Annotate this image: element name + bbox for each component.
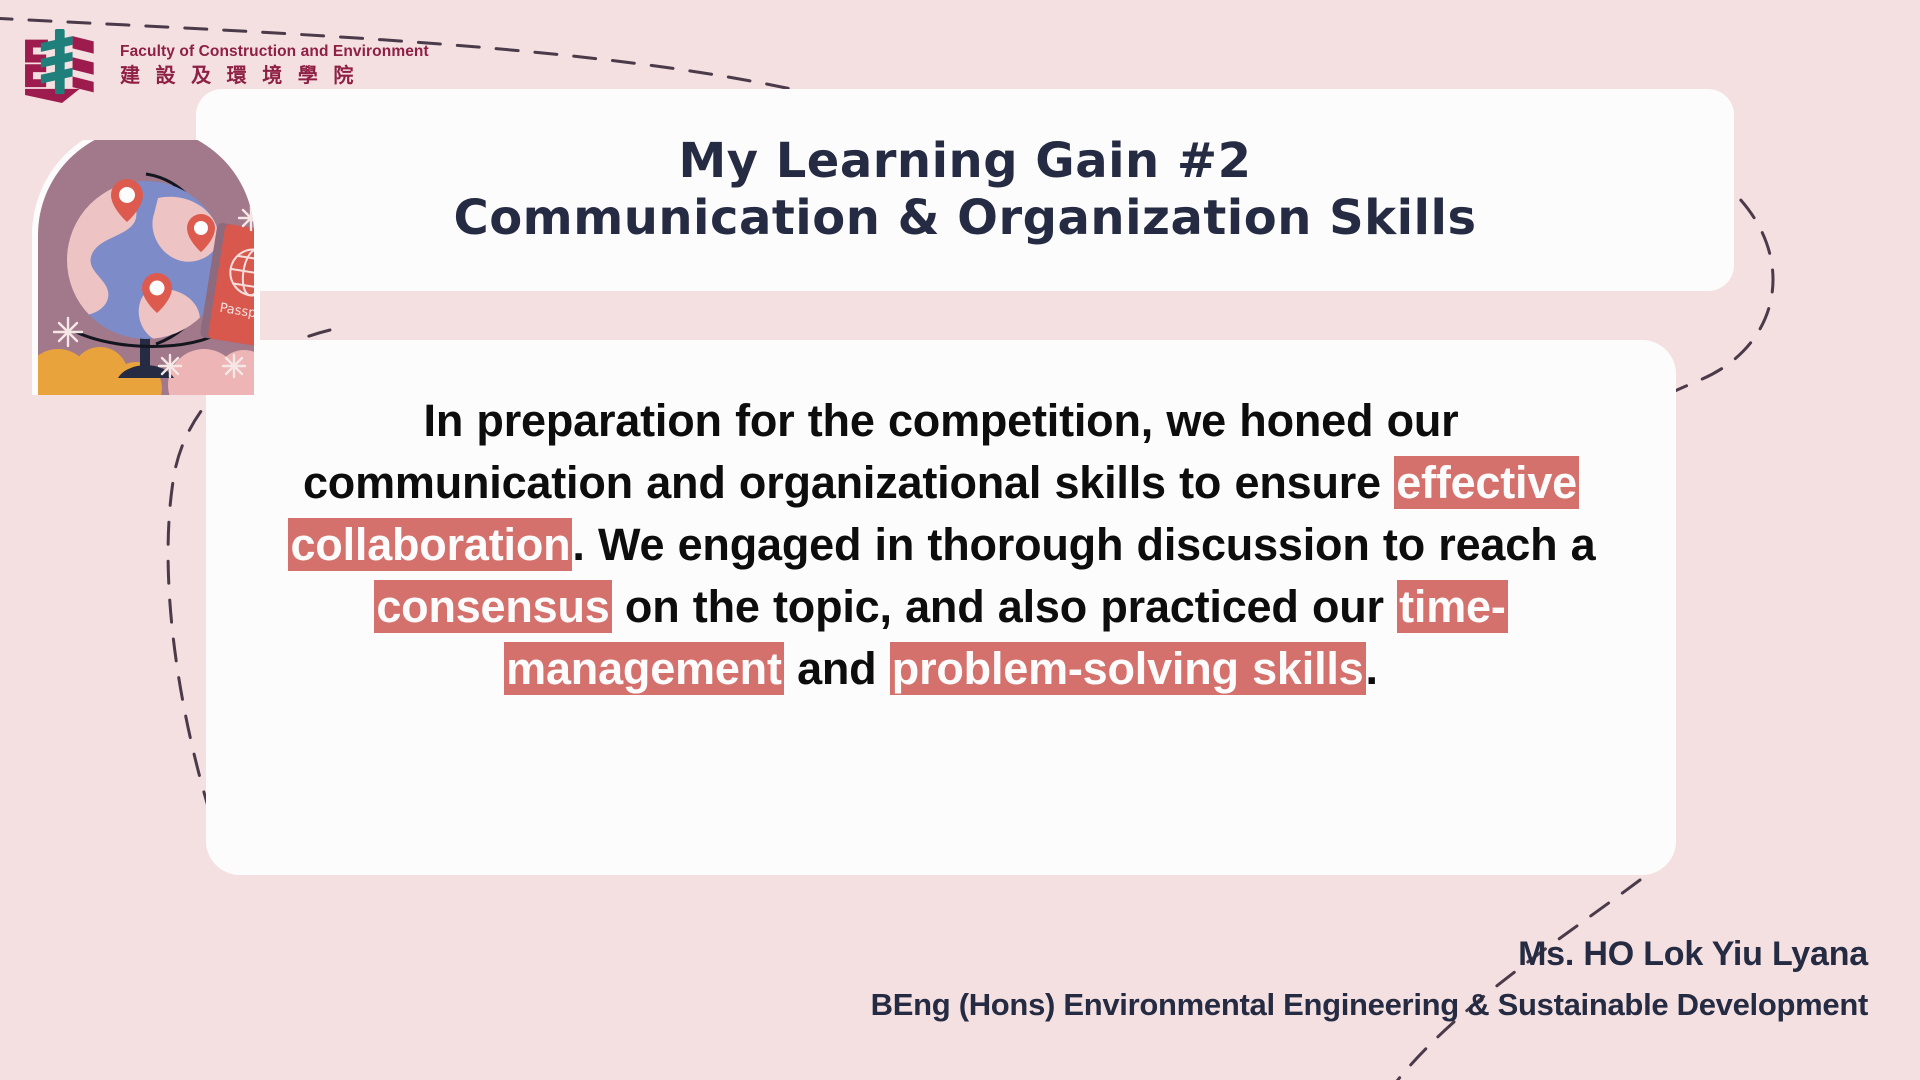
slide-root: { "slide": { "background_color": "#f4e0e… — [0, 0, 1920, 1080]
logo-text-english: Faculty of Construction and Environment — [120, 43, 429, 60]
body-text-run: . We engaged in thorough discussion to r… — [572, 519, 1595, 570]
logo-text-chinese: 建 設 及 環 境 學 院 — [120, 64, 429, 89]
body-text-run: and — [784, 643, 890, 694]
author-programme: BEng (Hons) Environmental Engineering & … — [871, 983, 1868, 1028]
body-paragraph: In preparation for the competition, we h… — [271, 390, 1611, 700]
fce-logo-icon — [18, 22, 106, 110]
author-attribution: Ms. HO Lok Yiu Lyana BEng (Hons) Environ… — [871, 930, 1868, 1028]
body-text-run: . — [1366, 643, 1378, 694]
highlighted-phrase: problem-solving skills — [890, 642, 1366, 695]
globe-and-passport-illustration: Passport — [28, 140, 326, 395]
title-card: My Learning Gain #2 Communication & Orga… — [196, 89, 1734, 291]
author-name: Ms. HO Lok Yiu Lyana — [871, 930, 1868, 979]
title-line-1: My Learning Gain #2 — [678, 133, 1251, 190]
faculty-logo: Faculty of Construction and Environment … — [18, 22, 429, 110]
body-text-run: on the topic, and also practiced our — [612, 581, 1398, 632]
title-line-2: Communication & Organization Skills — [453, 190, 1476, 247]
body-text-run: In preparation for the competition, we h… — [303, 395, 1458, 508]
highlighted-phrase: consensus — [374, 580, 611, 633]
body-card: In preparation for the competition, we h… — [206, 340, 1676, 875]
